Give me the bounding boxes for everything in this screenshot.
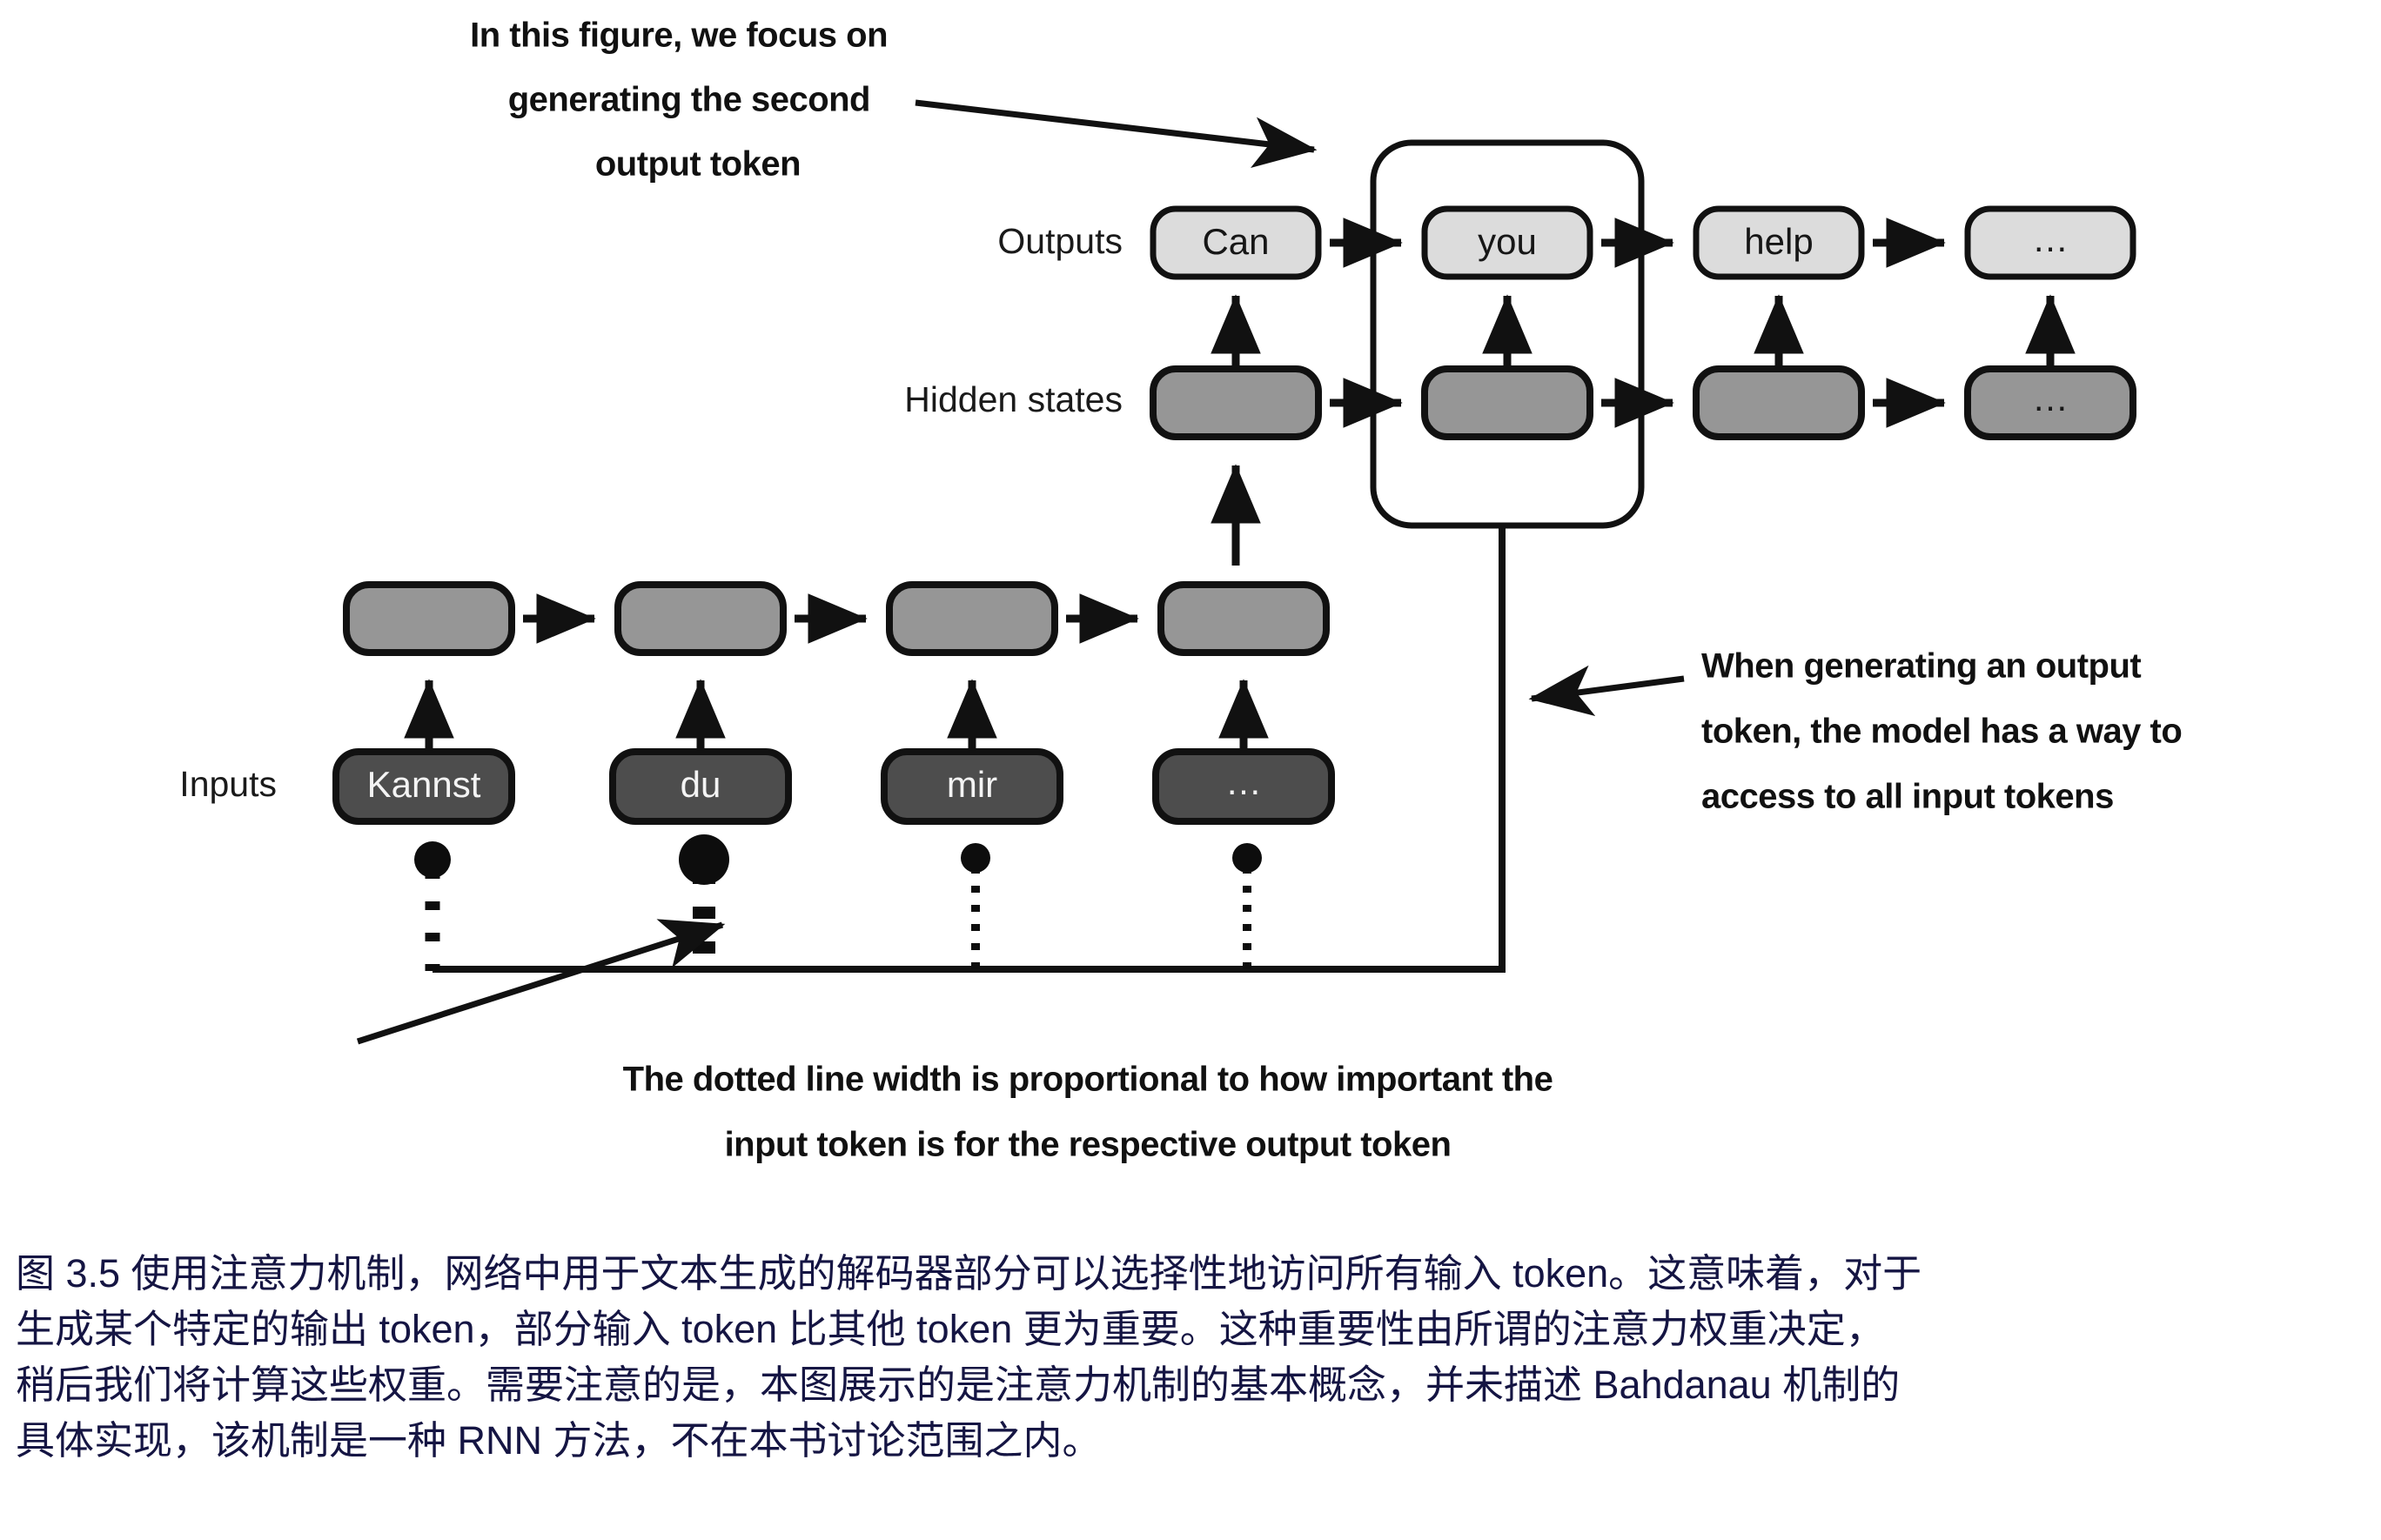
input-box-0-label: Kannst	[367, 764, 481, 805]
row-label-inputs: Inputs	[179, 764, 277, 804]
caption-line-3: 稍后我们将计算这些权重。需要注意的是，本图展示的是注意力机制的基本概念，并未描述…	[16, 1357, 2365, 1413]
output-box-1-label: you	[1478, 221, 1537, 262]
annotation-focus-line-1: In this figure, we focus on	[470, 17, 888, 55]
input-box-2-label: mir	[947, 764, 997, 805]
row-label-outputs: Outputs	[997, 221, 1123, 261]
row-label-hidden-states: Hidden states	[904, 379, 1123, 419]
annotation-access-line-2: token, the model has a way to	[1701, 713, 2182, 751]
figure-caption: 图 3.5 使用注意力机制，网络中用于文本生成的解码器部分可以选择性地访问所有输…	[16, 1246, 2365, 1469]
annotation-access-line-3: access to all input tokens	[1701, 778, 2114, 816]
input-box-1-label: du	[681, 764, 721, 805]
encoder-hidden-box-0[interactable]	[346, 585, 512, 653]
input-box-2[interactable]: mir	[884, 752, 1060, 821]
caption-line-2: 生成某个特定的输出 token，部分输入 token 比其他 token 更为重…	[16, 1302, 2365, 1357]
attention-weight-lines	[414, 834, 1262, 971]
annotation-access-arrow	[1532, 679, 1684, 699]
annotation-focus-line-2: generating the second	[508, 81, 870, 119]
caption-line-1: 图 3.5 使用注意力机制，网络中用于文本生成的解码器部分可以选择性地访问所有输…	[16, 1246, 2365, 1302]
annotation-focus: In this figure, we focus on generating t…	[470, 17, 1314, 184]
input-box-1[interactable]: du	[613, 752, 788, 821]
annotation-focus-arrow	[916, 103, 1314, 150]
decoder-hidden-box-0-shape[interactable]	[1153, 369, 1318, 437]
attention-diagram: In this figure, we focus on generating t…	[0, 0, 2381, 1235]
outputs-row: Outputs Can you help …	[997, 209, 2133, 277]
decoder-hidden-box-0[interactable]	[1153, 369, 1318, 437]
encoder-hidden-box-2[interactable]	[889, 585, 1055, 653]
annotation-focus-line-3: output token	[595, 145, 801, 184]
encoder-hidden-box-2-shape[interactable]	[889, 585, 1055, 653]
decoder-hidden-row: Hidden states …	[904, 369, 2133, 437]
output-box-1[interactable]: you	[1425, 209, 1590, 277]
annotation-access: When generating an output token, the mod…	[1532, 647, 2182, 816]
output-box-2-label: help	[1744, 221, 1813, 262]
annotation-access-line-1: When generating an output	[1701, 647, 2141, 686]
encoder-hidden-box-3-shape[interactable]	[1161, 585, 1326, 653]
decoder-hidden-box-3[interactable]: …	[1968, 369, 2133, 437]
inputs-row: Inputs Kannst du mir …	[179, 752, 1331, 821]
annotation-dotted-arrow	[358, 925, 722, 1041]
annotation-dotted: The dotted line width is proportional to…	[358, 925, 1553, 1164]
decoder-hidden-box-2[interactable]	[1696, 369, 1861, 437]
caption-line-4: 具体实现，该机制是一种 RNN 方法，不在本书讨论范围之内。	[16, 1413, 2365, 1469]
input-box-3-label: …	[1225, 761, 1262, 802]
decoder-hidden-box-1-shape[interactable]	[1425, 369, 1590, 437]
output-box-0[interactable]: Can	[1153, 209, 1318, 277]
output-box-3-label: …	[2032, 218, 2069, 259]
encoder-hidden-box-1[interactable]	[618, 585, 783, 653]
output-box-0-label: Can	[1202, 221, 1269, 262]
input-box-0[interactable]: Kannst	[336, 752, 512, 821]
input-box-3[interactable]: …	[1156, 752, 1331, 821]
annotation-dotted-line-1: The dotted line width is proportional to…	[623, 1061, 1553, 1099]
decoder-hidden-box-2-shape[interactable]	[1696, 369, 1861, 437]
encoder-hidden-box-3[interactable]	[1161, 585, 1326, 653]
encoder-hidden-box-0-shape[interactable]	[346, 585, 512, 653]
encoder-hidden-box-1-shape[interactable]	[618, 585, 783, 653]
annotation-dotted-line-2: input token is for the respective output…	[725, 1126, 1452, 1164]
figure-page: In this figure, we focus on generating t…	[0, 0, 2381, 1540]
encoder-vertical-arrows	[429, 680, 1244, 750]
encoder-hidden-row	[346, 585, 1326, 653]
output-box-2[interactable]: help	[1696, 209, 1861, 277]
decoder-hidden-box-1[interactable]	[1425, 369, 1590, 437]
decoder-hidden-box-3-label: …	[2032, 378, 2069, 418]
output-box-3[interactable]: …	[1968, 209, 2133, 277]
